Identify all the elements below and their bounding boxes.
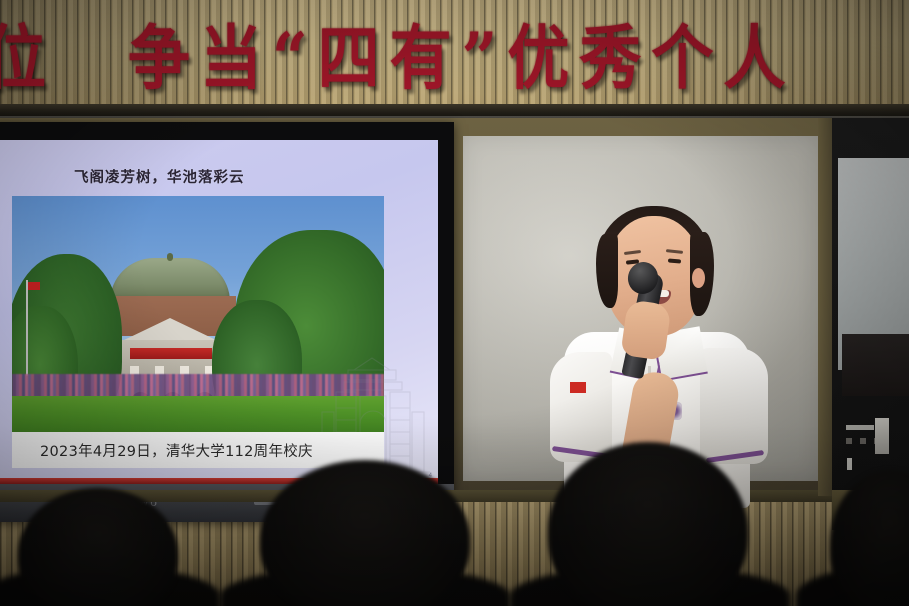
- photo-flagpole: [26, 280, 28, 376]
- speaker-hand: [620, 299, 671, 361]
- audience-head: [260, 460, 470, 606]
- banner: 位 争当“四有”优秀个人: [0, 6, 909, 98]
- slide-caption-text: 2023年4月29日，清华大学112周年校庆: [40, 440, 313, 461]
- speaker-flag-patch: [570, 382, 586, 393]
- cabinet-label: [846, 425, 874, 430]
- slide-caption: 2023年4月29日，清华大学112周年校庆: [12, 432, 384, 468]
- photo-auditorium-pediment: [124, 318, 216, 340]
- slide-title: 飞阁凌芳树，华池落彩云: [74, 166, 245, 187]
- photo-red-banner: [130, 348, 212, 359]
- speaker-shoulder-right: [700, 348, 768, 464]
- cabinet-dark-window: [842, 334, 909, 396]
- photo-flag: [28, 282, 40, 290]
- banner-text: 位 争当“四有”优秀个人: [0, 6, 795, 98]
- presentation-slide: 飞阁凌芳树，华池落彩云: [0, 140, 438, 483]
- screenshot-root: 位 争当“四有”优秀个人 飞阁凌芳树，华池落彩云: [0, 0, 909, 606]
- speaker-hair-left: [596, 234, 618, 308]
- cabinet-knob[interactable]: [847, 458, 852, 470]
- speaker-ear: [692, 268, 705, 288]
- speaker-shoulder-left: [550, 352, 612, 462]
- audience-head: [548, 442, 748, 606]
- cabinet-switch[interactable]: [875, 418, 889, 454]
- display-screen[interactable]: 飞阁凌芳树，华池落彩云: [0, 140, 438, 483]
